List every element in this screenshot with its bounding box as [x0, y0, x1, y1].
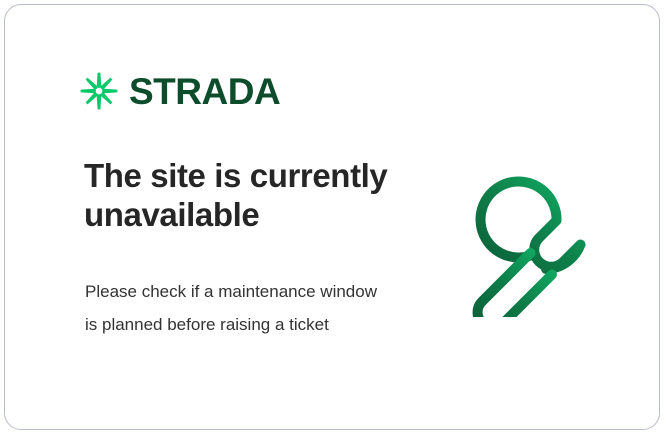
- brand-wordmark: STRADA: [129, 73, 280, 110]
- error-page-card: STRADA The site is currently unavailable…: [4, 4, 660, 430]
- page-title: The site is currently unavailable: [84, 157, 434, 234]
- page-content: STRADA The site is currently unavailable…: [5, 5, 659, 429]
- page-description: Please check if a maintenance window is …: [85, 275, 385, 341]
- strada-starburst-icon: [79, 71, 119, 111]
- wrench-icon: [460, 157, 620, 317]
- brand-logo: STRADA: [79, 71, 280, 111]
